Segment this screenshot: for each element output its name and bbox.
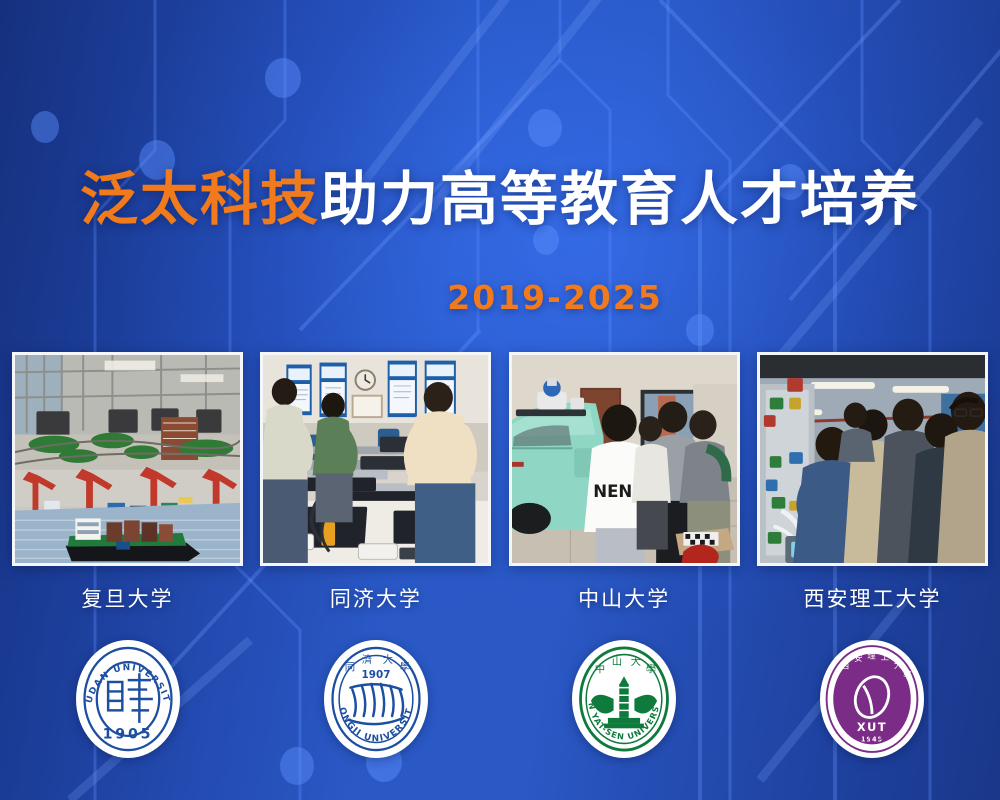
svg-text:1905: 1905 (102, 727, 153, 743)
photo-card-sysu[interactable]: NENR (509, 352, 740, 566)
sun-yat-sen-university-logo: 中 山 大 學 SUN YAT-SEN UNIVERSITY (572, 640, 676, 758)
photo-card-fudan[interactable] (12, 352, 243, 566)
uni-label-sysu: 中山大学 (509, 583, 740, 613)
svg-text:XUT: XUT (857, 720, 887, 734)
port-city-scale-model-photo (15, 355, 240, 563)
logo-cell-sysu: 中 山 大 學 SUN YAT-SEN UNIVERSITY (509, 636, 740, 762)
svg-text:安: 安 (855, 653, 864, 664)
svg-text:同: 同 (345, 662, 355, 674)
svg-text:1907: 1907 (361, 669, 390, 681)
page-title: 泛太科技助力高等教育人才培养 (0, 168, 1000, 231)
svg-text:山: 山 (612, 656, 622, 668)
title-rest: 助力高等教育人才培养 (320, 165, 920, 233)
svg-text:大: 大 (382, 653, 392, 666)
subtitle-year-range: 2019-2025 (447, 278, 662, 317)
tongji-university-logo: 同 濟 大 學 1907 TONGJI UNIVERSITY (324, 640, 428, 758)
svg-text:工: 工 (881, 653, 890, 663)
xian-university-of-technology-logo: 西安理 工大學 XUT 1949 XI'AN UNIVERSITY OF TEC… (820, 640, 924, 758)
university-label-row: 复旦大学 同济大学 中山大学 西安理工大学 (12, 583, 988, 613)
svg-text:學: 學 (646, 663, 656, 676)
photo-gallery: NENR (12, 352, 988, 566)
title-highlight: 泛太科技 (80, 165, 320, 233)
svg-text:學: 學 (904, 670, 913, 681)
university-logo-row: FUDAN UNIVERSITY 1905 (12, 636, 988, 762)
svg-text:大: 大 (894, 660, 903, 671)
svg-text:中: 中 (595, 663, 605, 676)
svg-text:理: 理 (868, 651, 877, 661)
fudan-university-logo: FUDAN UNIVERSITY 1905 (76, 640, 180, 758)
logo-cell-xut: 西安理 工大學 XUT 1949 XI'AN UNIVERSITY OF TEC… (757, 636, 988, 762)
svg-text:大: 大 (631, 655, 641, 668)
photo-card-tongji[interactable] (260, 352, 491, 566)
poster-root: 泛太科技助力高等教育人才培养 2019-2025 (0, 0, 1000, 800)
photo-card-xut[interactable] (757, 352, 988, 566)
autonomous-vehicle-students-photo: NENR (512, 355, 737, 563)
students-automation-workstation-photo (760, 355, 985, 563)
svg-text:學: 學 (399, 661, 409, 674)
uni-label-xut: 西安理工大学 (757, 583, 988, 613)
students-lab-bench-equipment-photo (263, 355, 488, 563)
logo-cell-fudan: FUDAN UNIVERSITY 1905 (12, 636, 243, 762)
uni-label-tongji: 同济大学 (260, 583, 491, 613)
svg-text:濟: 濟 (362, 653, 372, 666)
subtitle-wrap: 2019-2025 (0, 278, 1000, 317)
uni-label-fudan: 复旦大学 (12, 583, 243, 613)
logo-cell-tongji: 同 濟 大 學 1907 TONGJI UNIVERSITY (260, 636, 491, 762)
svg-text:西: 西 (841, 662, 850, 672)
